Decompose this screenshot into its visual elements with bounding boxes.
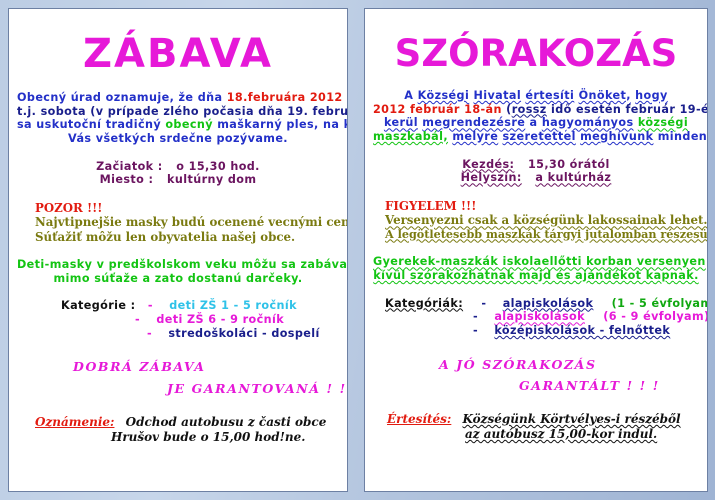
category-dash: -: [473, 310, 478, 323]
intro-text: hogy: [635, 89, 668, 102]
poster-right-kids: Gyerekek-maszkák iskolaellőtti korban ve…: [365, 255, 707, 282]
notice-row: Értesítés: Községünk Körtvélyes-i részéb…: [373, 412, 699, 427]
notice-text: Odchod autobusu z časti obce: [126, 415, 327, 429]
intro-line-4: Vás všetkých srdečne pozývame.: [17, 132, 339, 146]
poster-left-kids: Deti-masky v predškolskom veku môžu sa z…: [9, 258, 347, 285]
category-label: alapiskolások: [503, 297, 594, 310]
detail-value: kultúrny dom: [167, 173, 256, 186]
slogan-line-2: JE GARANTOVANÁ ! ! !: [17, 381, 339, 396]
intro-text: meghívunk: [580, 130, 653, 143]
intro-text: megrendezésre: [422, 116, 525, 129]
notice-text: Községünk Körtvélyes-i részéből: [463, 412, 681, 426]
warning-line-1: Versenyezni csak a községünk lakossainak…: [373, 213, 699, 227]
slogan-line-1: DOBRÁ ZÁBAVA: [17, 359, 339, 374]
slogan-line-1: A JÓ SZÓRAKOZÁS: [373, 357, 699, 372]
intro-date: 18.februára 2012: [227, 91, 343, 104]
category-dash: -: [147, 327, 152, 340]
intro-text: a: [525, 116, 542, 129]
poster-right-slogan: A JÓ SZÓRAKOZÁS GARANTÁLT ! ! !: [365, 357, 707, 394]
category-row: - középiskolások - felnőttek: [373, 324, 699, 338]
warning-heading: POZOR !!!: [17, 201, 339, 215]
detail-label: Kezdés:: [462, 158, 514, 171]
intro-line-2: 2012 február 18-án (rossz idő esetén feb…: [373, 103, 699, 117]
intro-text: A: [404, 89, 417, 102]
category-extra: (1 - 5 évfolyam): [612, 297, 708, 310]
kids-line-1: Deti-masky v predškolskom veku môžu sa z…: [17, 258, 339, 272]
intro-text: kerül: [384, 116, 418, 129]
category-row: - deti ZŠ 6 - 9 ročník: [17, 313, 339, 327]
categories-label: Kategóriák:: [385, 297, 463, 310]
intro-text: Önöket,: [579, 89, 631, 102]
intro-text: maškarný ples, na ktorý: [213, 118, 348, 131]
kids-line-2: kívül szórakozhatnak majd és ajándékot k…: [373, 269, 699, 283]
detail-value: 15,30 órától: [528, 158, 610, 171]
poster-left-slogan: DOBRÁ ZÁBAVA JE GARANTOVANÁ ! ! !: [9, 359, 347, 396]
poster-right-warning: FIGYELEM !!! Versenyezni csak a községün…: [365, 199, 707, 241]
intro-text: értesíti: [525, 89, 574, 102]
intro-text: Vás všetkých srdečne pozývame.: [68, 132, 288, 145]
category-label: középiskolások - felnőttek: [494, 324, 670, 337]
intro-text: Hivatal: [473, 89, 521, 102]
category-dash: -: [135, 313, 140, 326]
intro-line-1: Obecný úrad oznamuje, že dňa 18.februára…: [17, 91, 339, 105]
category-dash: -: [148, 299, 153, 312]
intro-text: (: [502, 103, 512, 116]
intro-text: mindenkit.: [653, 130, 708, 143]
poster-left-warning: POZOR !!! Najvtipnejšie masky budú ocene…: [9, 201, 347, 244]
warning-line-1: Najvtipnejšie masky budú ocenené vecnými…: [17, 215, 339, 229]
poster-right-notice: Értesítés: Községünk Körtvélyes-i részéb…: [365, 412, 707, 441]
intro-highlight: obecný: [165, 118, 213, 131]
warning-line-2: Súťažiť môžu len obyvatelia našej obce.: [17, 230, 339, 244]
notice-label: Oznámenie:: [35, 415, 114, 429]
intro-text: hagyományos: [542, 116, 634, 129]
category-dash: -: [473, 324, 478, 337]
category-label: stredoškoláci - dospelí: [168, 327, 319, 340]
poster-left-notice: Oznámenie: Odchod autobusu z časti obce …: [9, 415, 347, 444]
category-dash: -: [481, 297, 486, 310]
intro-text: rossz: [512, 103, 547, 116]
intro-line-3: kerül megrendezésre a hagyományos község…: [373, 116, 699, 130]
intro-text: t.j. sobota (v prípade zlého počasia dňa…: [17, 105, 348, 118]
notice-label: Értesítés:: [387, 412, 451, 426]
intro-text: Községi: [418, 89, 470, 102]
warning-heading: FIGYELEM !!!: [373, 199, 699, 213]
poster-left-intro: Obecný úrad oznamuje, že dňa 18.februára…: [9, 91, 347, 146]
poster-stage: ZÁBAVA Obecný úrad oznamuje, že dňa 18.f…: [0, 0, 715, 500]
intro-text: melyre: [452, 130, 498, 143]
category-row: Kategóriák: - alapiskolások (1 - 5 évfol…: [373, 297, 699, 311]
poster-left-categories: Kategórie : - deti ZŠ 1 - 5 ročník - det…: [9, 299, 347, 340]
intro-line-2: t.j. sobota (v prípade zlého počasia dňa…: [17, 105, 339, 119]
poster-right: SZÓRAKOZÁS A Községi Hivatal értesíti Ön…: [364, 8, 708, 492]
detail-place: Miesto : kultúrny dom: [17, 173, 339, 187]
poster-right-categories: Kategóriák: - alapiskolások (1 - 5 évfol…: [365, 297, 707, 338]
notice-text-2: az autóbusz 15,00-kor indul.: [373, 427, 699, 442]
warning-line-2: A legötletesebb maszkák tárgyi jutalomba…: [373, 228, 699, 242]
notice-text-2: Hrušov bude o 15,00 hod!ne.: [17, 430, 339, 445]
intro-text: szeretettel: [503, 130, 576, 143]
kids-line-1: Gyerekek-maszkák iskolaellőtti korban ve…: [373, 255, 699, 269]
detail-value: a kultúrház: [535, 171, 611, 184]
category-row: Kategórie : - deti ZŠ 1 - 5 ročník: [17, 299, 339, 313]
detail-start: Začiatok : o 15,30 hod.: [17, 160, 339, 174]
detail-place: Helyszín: a kultúrház: [373, 171, 699, 185]
intro-highlight: községi: [638, 116, 688, 129]
category-row: - stredoškoláci - dospelí: [17, 327, 339, 341]
notice-row: Oznámenie: Odchod autobusu z časti obce: [17, 415, 339, 430]
poster-right-details: Kezdés: 15,30 órától Helyszín: a kultúrh…: [365, 158, 707, 185]
poster-right-intro: A Községi Hivatal értesíti Önöket, hogy …: [365, 89, 707, 144]
poster-left: ZÁBAVA Obecný úrad oznamuje, že dňa 18.f…: [8, 8, 348, 492]
category-label: deti ZŠ 6 - 9 ročník: [156, 313, 284, 326]
category-row: - alapiskolások (6 - 9 évfolyam): [373, 310, 699, 324]
detail-label: Začiatok :: [96, 160, 163, 173]
intro-text: Obecný úrad oznamuje, že dňa: [17, 91, 227, 104]
detail-value: o 15,30 hod.: [176, 160, 260, 173]
intro-date: 2012 február 18-án: [373, 103, 502, 116]
intro-line-4: maszkabál, melyre szeretettel meghívunk …: [373, 130, 699, 144]
intro-highlight: maszkabál,: [373, 130, 448, 143]
poster-left-title: ZÁBAVA: [9, 31, 347, 77]
detail-label: Helyszín:: [461, 171, 522, 184]
intro-line-1: A Községi Hivatal értesíti Önöket, hogy: [373, 89, 699, 103]
category-extra: (6 - 9 évfolyam): [603, 310, 708, 323]
intro-line-3: sa uskutoční tradičný obecný maškarný pl…: [17, 118, 339, 132]
kids-line-2: mimo súťaže a zato dostanú darčeky.: [17, 272, 339, 286]
intro-text: idő esetén február 19-én): [547, 103, 708, 116]
poster-left-details: Začiatok : o 15,30 hod. Miesto : kultúrn…: [9, 160, 347, 187]
intro-text: sa uskutoční tradičný: [17, 118, 165, 131]
poster-right-title: SZÓRAKOZÁS: [365, 32, 707, 75]
slogan-line-2: GARANTÁLT ! ! !: [373, 378, 699, 393]
category-label: deti ZŠ 1 - 5 ročník: [169, 299, 297, 312]
detail-start: Kezdés: 15,30 órától: [373, 158, 699, 172]
detail-label: Miesto :: [100, 173, 154, 186]
category-label: alapiskolások: [494, 310, 585, 323]
categories-label: Kategórie :: [61, 299, 136, 312]
